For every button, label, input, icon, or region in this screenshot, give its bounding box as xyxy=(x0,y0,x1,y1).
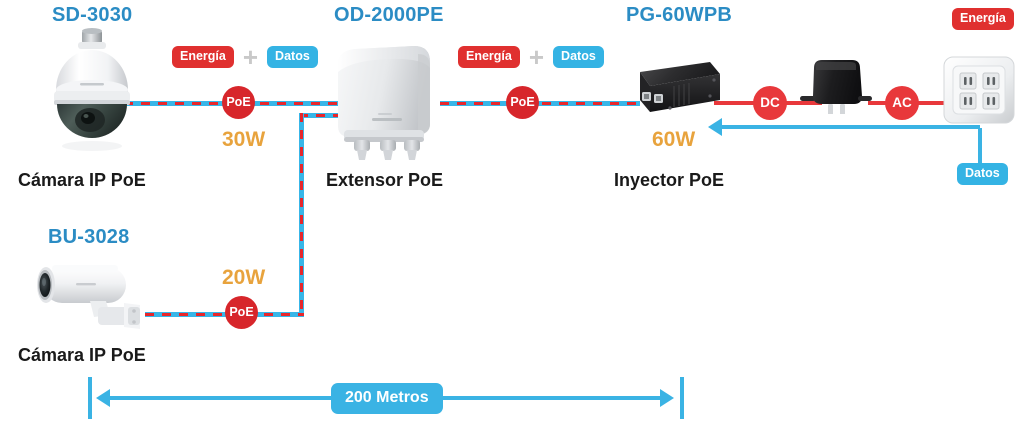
poe-network-diagram: SD-3030 Cámara IP PoE xyxy=(0,0,1024,427)
connector-poe-dome: PoE xyxy=(222,86,255,119)
power-label-injector: 60W xyxy=(652,128,695,152)
datos-callout-vertical xyxy=(978,128,982,164)
plus-sign-1: + xyxy=(243,44,258,70)
datos-callout-horizontal xyxy=(722,125,980,129)
power-label-dome-camera: 30W xyxy=(222,128,265,152)
device-model-pg60wpb: PG-60WPB xyxy=(626,4,732,27)
device-caption-extender: Extensor PoE xyxy=(326,170,443,191)
device-caption-dome-camera: Cámara IP PoE xyxy=(18,170,146,191)
power-label-bullet-camera: 20W xyxy=(222,266,265,290)
power-adapter-icon xyxy=(800,52,872,114)
connector-poe-bullet: PoE xyxy=(225,296,258,329)
device-caption-bullet-camera: Cámara IP PoE xyxy=(18,345,146,366)
badge-datos-injector: Datos xyxy=(957,163,1008,185)
connector-poe-injector: PoE xyxy=(506,86,539,119)
device-model-od2000pe: OD-2000PE xyxy=(334,4,444,27)
badge-energia-2: Energía xyxy=(458,46,520,68)
device-model-sd3030: SD-3030 xyxy=(52,4,132,27)
cable-extender-to-injector xyxy=(440,101,640,106)
plus-sign-2: + xyxy=(529,44,544,70)
ptz-dome-camera-icon xyxy=(44,28,140,153)
connector-dc: DC xyxy=(753,86,787,120)
distance-tick-right xyxy=(680,377,684,419)
badge-datos-1: Datos xyxy=(267,46,318,68)
bullet-camera-icon xyxy=(28,255,150,335)
distance-tick-left xyxy=(88,377,92,419)
badge-datos-2: Datos xyxy=(553,46,604,68)
badge-energia-outlet: Energía xyxy=(952,8,1014,30)
poe-injector-icon xyxy=(622,58,722,120)
connector-ac: AC xyxy=(885,86,919,120)
device-model-bu3028: BU-3028 xyxy=(48,226,129,249)
distance-label: 200 Metros xyxy=(331,383,443,414)
device-caption-injector: Inyector PoE xyxy=(614,170,724,191)
legend-power-plus-data-2: Energía + Datos xyxy=(458,44,604,70)
datos-callout-arrowhead xyxy=(708,118,722,136)
poe-extender-icon xyxy=(330,40,440,162)
distance-arrowhead-right xyxy=(660,389,674,407)
wall-outlet-icon xyxy=(940,54,1020,128)
cable-branch-vertical xyxy=(299,113,304,315)
badge-energia-1: Energía xyxy=(172,46,234,68)
legend-power-plus-data-1: Energía + Datos xyxy=(172,44,318,70)
